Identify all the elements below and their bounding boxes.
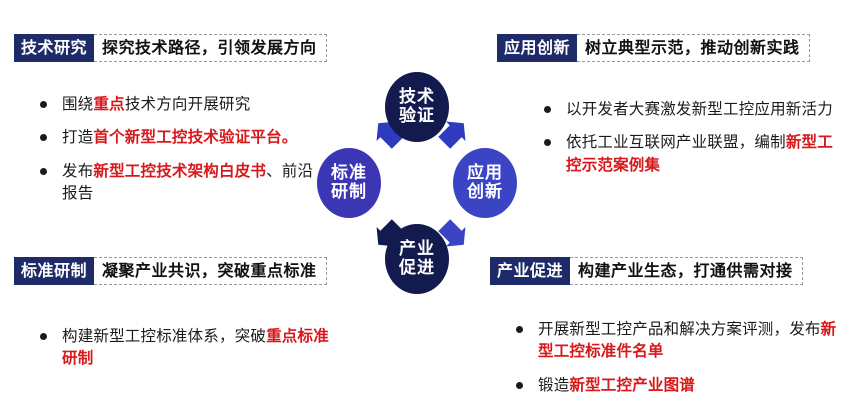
bullet-text: 打造 bbox=[62, 128, 93, 146]
cycle-node-app-innovation-line1: 应用 bbox=[467, 164, 503, 183]
cycle-node-industry-promo-line1: 产业 bbox=[399, 240, 435, 259]
bullet-list-tech-research: 围绕重点技术方向开展研究打造首个新型工控技术验证平台。发布新型工控技术架构白皮书… bbox=[36, 93, 326, 216]
bullet-text: 依托工业互联网产业联盟，编制 bbox=[566, 133, 786, 151]
cycle-node-standard-dev[interactable]: 标准 研制 bbox=[317, 148, 381, 218]
bullet-item: 发布新型工控技术架构白皮书、前沿报告 bbox=[36, 160, 326, 205]
subtitle-tech-research: 探究技术路径，引领发展方向 bbox=[94, 34, 327, 62]
bullet-item: 锻造新型工控产业图谱 bbox=[512, 374, 842, 396]
badge-tech-research: 技术研究 bbox=[14, 34, 94, 62]
quadrant-header-standard-dev: 标准研制 凝聚产业共识，突破重点标准 bbox=[14, 257, 327, 285]
bullet-emphasis-text: 重点 bbox=[93, 95, 124, 113]
bullet-item: 围绕重点技术方向开展研究 bbox=[36, 93, 326, 115]
subtitle-standard-dev: 凝聚产业共识，突破重点标准 bbox=[94, 257, 327, 285]
bullet-text: 锻造 bbox=[538, 376, 569, 394]
bullet-text: 技术方向开展研究 bbox=[125, 95, 251, 113]
bullet-item: 打造首个新型工控技术验证平台。 bbox=[36, 126, 326, 148]
cycle-node-tech-verification-line2: 验证 bbox=[399, 107, 435, 126]
quadrant-header-app-innovation: 应用创新 树立典型示范，推动创新实践 bbox=[497, 34, 810, 62]
badge-standard-dev: 标准研制 bbox=[14, 257, 94, 285]
bullet-emphasis-text: 首个新型工控技术验证平台。 bbox=[93, 128, 297, 146]
bullet-text: 构建新型工控标准体系，突破 bbox=[62, 327, 266, 345]
cycle-node-industry-promo[interactable]: 产业 促进 bbox=[385, 224, 449, 294]
bullet-text: 围绕 bbox=[62, 95, 93, 113]
badge-app-innovation: 应用创新 bbox=[497, 34, 577, 62]
cycle-node-app-innovation[interactable]: 应用 创新 bbox=[453, 148, 517, 218]
subtitle-app-innovation: 树立典型示范，推动创新实践 bbox=[577, 34, 810, 62]
cycle-diagram: 技术 验证 应用 创新 产业 促进 标准 研制 bbox=[315, 72, 540, 297]
bullet-item: 构建新型工控标准体系，突破重点标准研制 bbox=[36, 325, 336, 370]
cycle-node-standard-dev-line1: 标准 bbox=[331, 164, 367, 183]
bullet-list-industry-promo: 开展新型工控产品和解决方案评测，发布新型工控标准件名单锻造新型工控产业图谱 bbox=[512, 318, 842, 407]
slide-canvas: 技术研究 探究技术路径，引领发展方向 应用创新 树立典型示范，推动创新实践 标准… bbox=[0, 0, 865, 408]
bullet-text: 以开发者大赛激发新型工控应用新活力 bbox=[566, 100, 833, 118]
cycle-node-app-innovation-line2: 创新 bbox=[467, 183, 503, 202]
bullet-text: 发布 bbox=[62, 162, 93, 180]
cycle-node-industry-promo-line2: 促进 bbox=[399, 259, 435, 278]
bullet-item: 开展新型工控产品和解决方案评测，发布新型工控标准件名单 bbox=[512, 318, 842, 363]
cycle-node-tech-verification[interactable]: 技术 验证 bbox=[385, 72, 449, 142]
bullet-item: 依托工业互联网产业联盟，编制新型工控示范案例集 bbox=[540, 131, 840, 176]
bullet-list-app-innovation: 以开发者大赛激发新型工控应用新活力依托工业互联网产业联盟，编制新型工控示范案例集 bbox=[540, 98, 840, 187]
bullet-emphasis-text: 新型工控技术架构白皮书 bbox=[93, 162, 266, 180]
quadrant-header-tech-research: 技术研究 探究技术路径，引领发展方向 bbox=[14, 34, 327, 62]
bullet-emphasis-text: 新型工控产业图谱 bbox=[569, 376, 695, 394]
cycle-node-standard-dev-line2: 研制 bbox=[331, 183, 367, 202]
subtitle-industry-promo: 构建产业生态，打通供需对接 bbox=[570, 257, 803, 285]
bullet-list-standard-dev: 构建新型工控标准体系，突破重点标准研制 bbox=[36, 325, 336, 381]
bullet-item: 以开发者大赛激发新型工控应用新活力 bbox=[540, 98, 840, 120]
cycle-node-tech-verification-line1: 技术 bbox=[399, 88, 435, 107]
bullet-text: 开展新型工控产品和解决方案评测，发布 bbox=[538, 320, 821, 338]
